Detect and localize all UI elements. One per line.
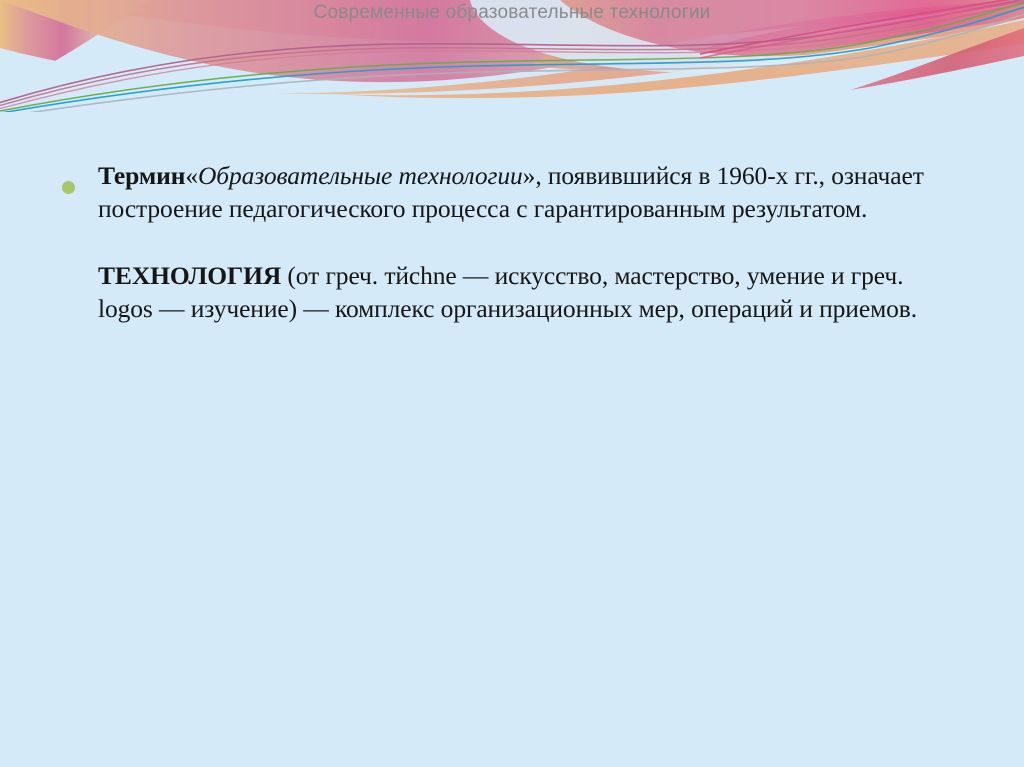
technology-heading-word: ТЕХНОЛОГИЯ [98,261,281,290]
technology-definition-paragraph: ТЕХНОЛОГИЯ (от греч. тйchne — искусство,… [0,260,1024,325]
open-quote: « [185,161,198,190]
greek-origin-prefix: (от греч. [281,261,384,290]
slide-canvas: Современные образовательные технологии Т… [0,0,1024,767]
techne-meaning: — искусство, мастерство, умение и греч. [457,261,904,290]
term-label: Термин [98,161,185,190]
slide-content: Термин«Образовательные технологии», появ… [0,160,1024,325]
logos-meaning-and-summary: — изучение) — комплекс организационных м… [153,294,917,323]
bullet-dot-icon [62,181,75,194]
term-definition-italic: Образовательные технологии [198,161,523,190]
greek-word-logos: logos [98,294,153,323]
greek-word-techne: тйchne [384,261,456,290]
bullet-paragraph-text: Термин«Образовательные технологии», появ… [98,160,964,225]
wave-ribbon-header-artwork [0,0,1024,112]
list-item: Термин«Образовательные технологии», появ… [0,160,1024,225]
